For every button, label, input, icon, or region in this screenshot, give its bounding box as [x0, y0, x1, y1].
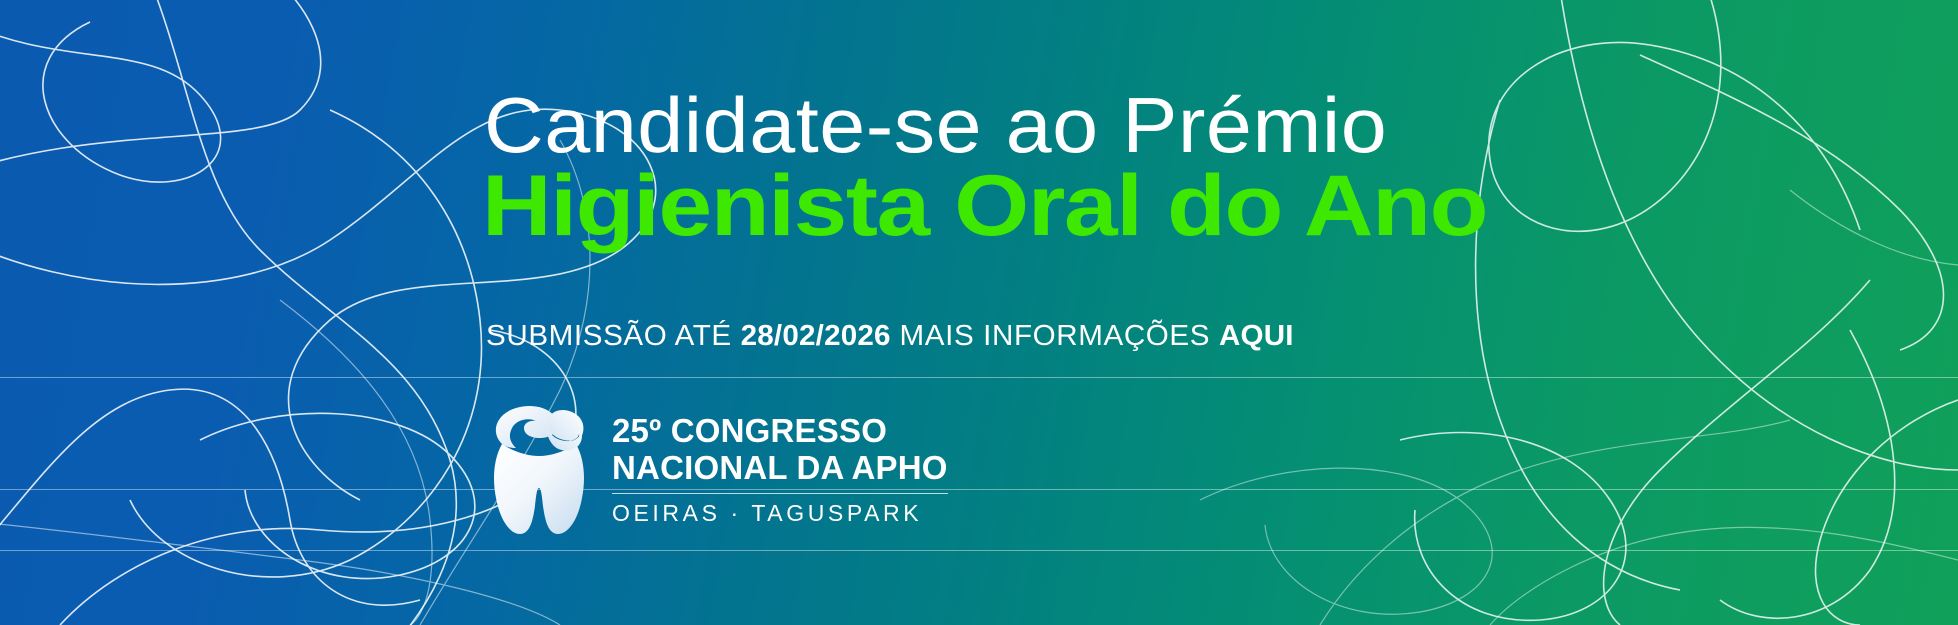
logo-divider [612, 493, 948, 494]
submission-prefix: SUBMISSÃO ATÉ [486, 320, 732, 352]
headline-line-1: Candidate-se ao Prémio [484, 86, 1387, 164]
congress-logo-lockup[interactable]: 25º CONGRESSO NACIONAL DA APHO OEIRAS · … [484, 400, 948, 538]
tooth-icon [484, 400, 594, 538]
banner-content: Candidate-se ao Prémio Higienista Oral d… [482, 0, 1682, 625]
headline-line-2: Higienista Oral do Ano [482, 163, 1487, 249]
more-info-label: MAIS INFORMAÇÕES [900, 320, 1211, 352]
more-info-link[interactable]: AQUI [1219, 320, 1294, 352]
submission-deadline-date: 28/02/2026 [741, 320, 891, 352]
promo-banner: Candidate-se ao Prémio Higienista Oral d… [0, 0, 1958, 625]
congress-name-line-1: 25º CONGRESSO [612, 413, 948, 450]
congress-name-line-2: NACIONAL DA APHO [612, 450, 948, 487]
congress-logo-text: 25º CONGRESSO NACIONAL DA APHO OEIRAS · … [612, 413, 948, 526]
congress-location: OEIRAS · TAGUSPARK [612, 502, 948, 525]
submission-info-line: SUBMISSÃO ATÉ 28/02/2026 MAIS INFORMAÇÕE… [486, 322, 1294, 351]
